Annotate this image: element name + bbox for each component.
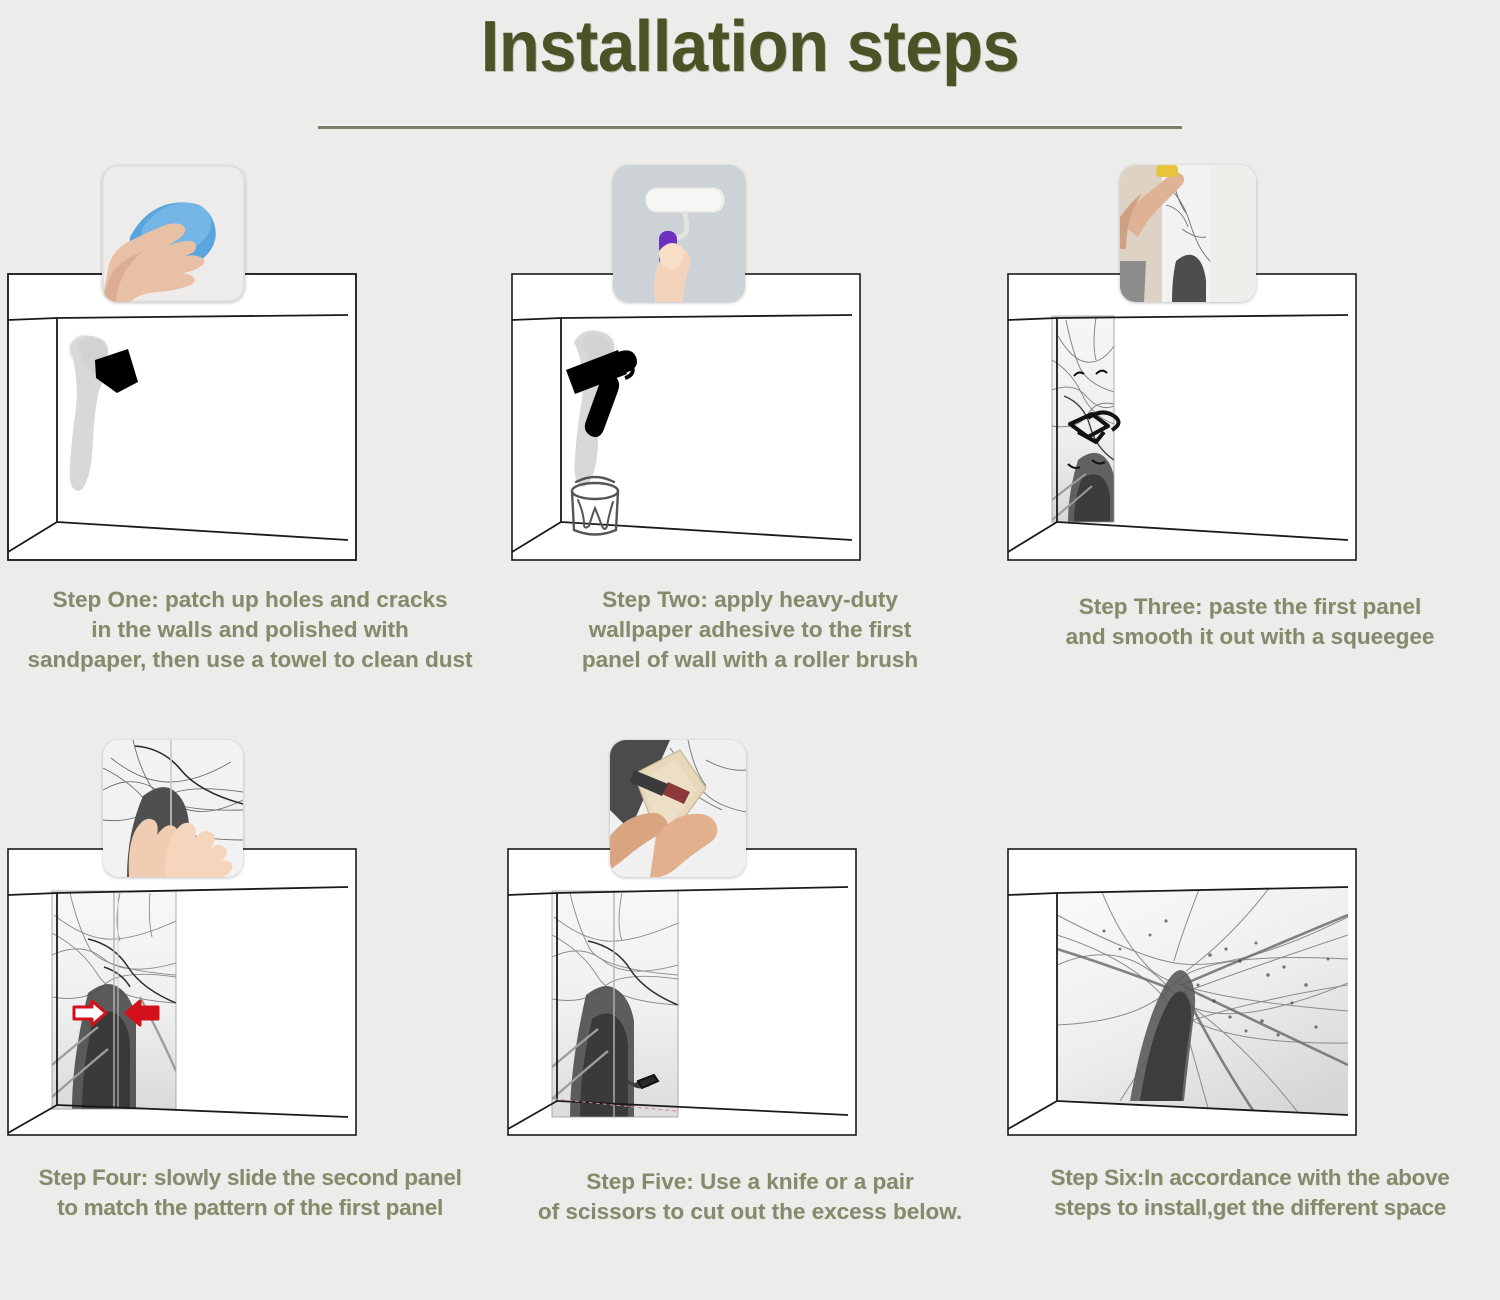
step-one-caption: Step One: patch up holes and cracks in t…: [0, 585, 500, 675]
step-six-caption: Step Six:In accordance with the above st…: [1000, 1163, 1500, 1223]
step-two-caption: Step Two: apply heavy-duty wallpaper adh…: [500, 585, 1000, 675]
inset-photo-step-three: [1120, 165, 1256, 302]
step-card-one: Step One: patch up holes and cracks in t…: [0, 160, 500, 725]
step-card-five: Step Five: Use a knife or a pair of scis…: [500, 735, 1000, 1300]
steps-row-bottom: Step Four: slowly slide the second panel…: [0, 735, 1500, 1300]
mural-full-wall: [1057, 887, 1348, 1115]
mural-panels: [52, 891, 176, 1109]
step-card-two: Step Two: apply heavy-duty wallpaper adh…: [500, 160, 1000, 725]
step-card-three: Step Three: paste the first panel and sm…: [1000, 160, 1500, 725]
caption-line: sandpaper, then use a towel to clean dus…: [0, 645, 500, 675]
inset-photo-step-one: [102, 165, 245, 302]
step-three-caption: Step Three: paste the first panel and sm…: [1000, 592, 1500, 652]
step-four-figure: [0, 735, 500, 1155]
steps-grid: Step One: patch up holes and cracks in t…: [0, 160, 1500, 1300]
step-card-four: Step Four: slowly slide the second panel…: [0, 735, 500, 1300]
caption-line: to match the pattern of the first panel: [0, 1193, 500, 1223]
caption-line: Step Five: Use a knife or a pair: [500, 1167, 1000, 1197]
caption-line: and smooth it out with a squeegee: [1000, 622, 1500, 652]
step-two-figure: [500, 160, 1000, 580]
mural-panels: [552, 891, 678, 1117]
caption-line: in the walls and polished with: [0, 615, 500, 645]
page-title: Installation steps: [53, 6, 1448, 88]
caption-line: Step Four: slowly slide the second panel: [0, 1163, 500, 1193]
step-one-figure: [0, 160, 500, 580]
step-four-caption: Step Four: slowly slide the second panel…: [0, 1163, 500, 1223]
step-three-figure: [1000, 160, 1500, 580]
inset-photo-step-four: [103, 740, 243, 877]
steps-row-top: Step One: patch up holes and cracks in t…: [0, 160, 1500, 725]
inset-photo-step-two: [613, 165, 745, 302]
caption-line: Step One: patch up holes and cracks: [0, 585, 500, 615]
caption-line: Step Two: apply heavy-duty: [500, 585, 1000, 615]
step-six-figure: [1000, 735, 1500, 1155]
title-divider: [318, 124, 1182, 129]
step-card-six: Step Six:In accordance with the above st…: [1000, 735, 1500, 1300]
caption-line: Step Six:In accordance with the above: [1000, 1163, 1500, 1193]
caption-line: steps to install,get the different space: [1000, 1193, 1500, 1223]
caption-line: of scissors to cut out the excess below.: [500, 1197, 1000, 1227]
inset-photo-step-five: [610, 740, 746, 877]
caption-line: wallpaper adhesive to the first: [500, 615, 1000, 645]
caption-line: Step Three: paste the first panel: [1000, 592, 1500, 622]
step-five-figure: [500, 735, 1000, 1155]
step-five-caption: Step Five: Use a knife or a pair of scis…: [500, 1167, 1000, 1227]
installation-steps-page: Installation steps: [0, 0, 1500, 1263]
caption-line: panel of wall with a roller brush: [500, 645, 1000, 675]
